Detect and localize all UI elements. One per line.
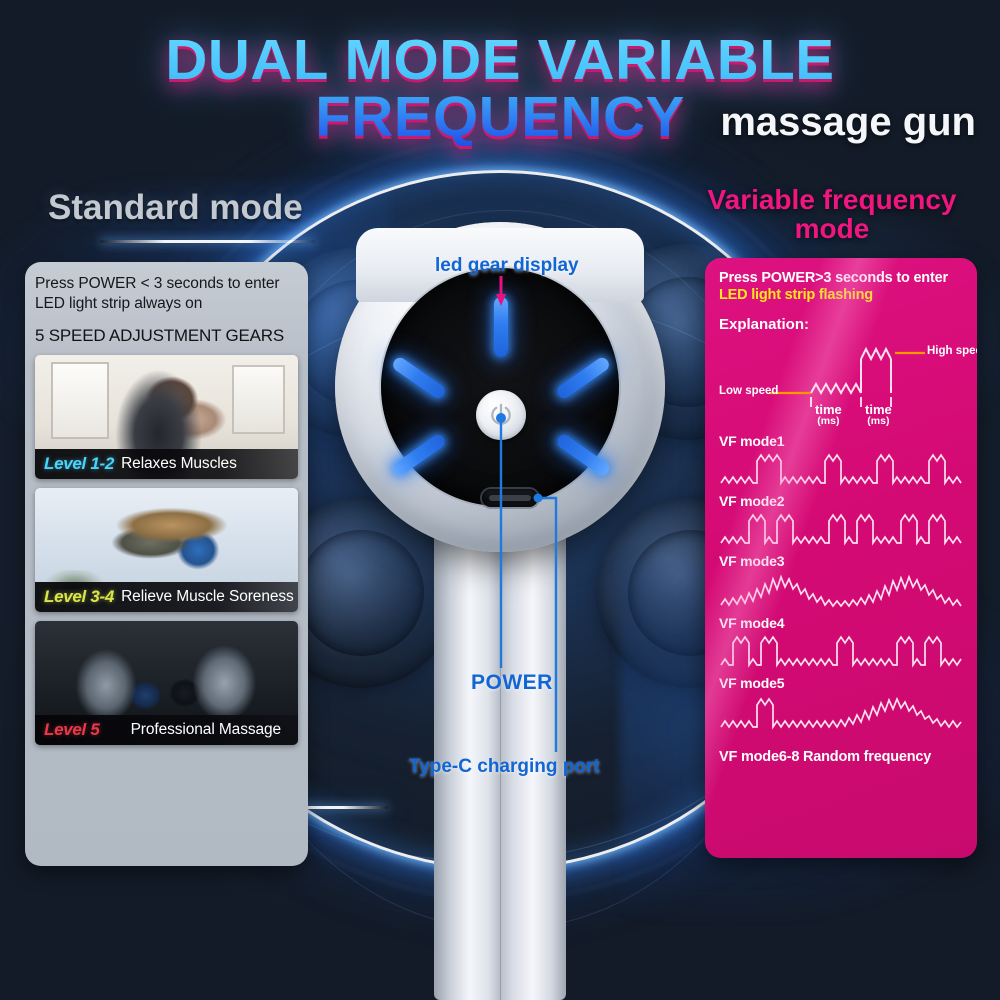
explanation-label: Explanation:: [719, 316, 965, 333]
vf-heading-line2: mode: [795, 213, 870, 244]
time-unit: (ms): [815, 416, 842, 427]
standard-mode-panel: Press POWER < 3 seconds to enter LED lig…: [25, 262, 308, 866]
level-card[interactable]: Level 1-2 Relaxes Muscles: [35, 355, 298, 479]
vf-instruction-line1: Press POWER>3 seconds to enter: [719, 270, 965, 286]
variable-frequency-heading: Variable frequency mode: [682, 186, 982, 243]
vf-random-frequency-label: VF mode6-8 Random frequency: [719, 749, 965, 765]
speed-gears-label: 5 SPEED ADJUSTMENT GEARS: [35, 326, 298, 346]
level-caption: Level 3-4 Relieve Muscle Soreness: [35, 582, 298, 612]
time-unit: (ms): [865, 416, 892, 427]
level-tag: Level 1-2: [44, 454, 114, 474]
standard-mode-heading: Standard mode: [48, 188, 303, 228]
standard-instruction-line2: LED light strip always on: [35, 294, 298, 314]
level-caption: Level 5 Professional Massage: [35, 715, 298, 745]
vf-heading-line1: Variable frequency: [707, 184, 956, 215]
vf-mode-row: VF mode1: [719, 433, 965, 491]
standard-instruction-line1: Press POWER < 3 seconds to enter: [35, 274, 298, 294]
page-subtitle: massage gun: [720, 100, 976, 145]
vf-mode-row: VF mode2: [719, 493, 965, 551]
vf-mode4-waveform: [719, 629, 965, 673]
vf-instruction-line2: LED light strip flashing: [719, 287, 965, 303]
level-tag: Level 5: [44, 720, 100, 740]
vf-mode1-waveform: [719, 447, 965, 491]
vf-mode-row: VF mode5: [719, 675, 965, 735]
light-streak: [100, 240, 315, 243]
level-tag: Level 3-4: [44, 587, 114, 607]
level-card[interactable]: Level 3-4 Relieve Muscle Soreness: [35, 488, 298, 612]
vf-mode2-waveform: [719, 507, 965, 551]
level-card[interactable]: Level 5 Professional Massage: [35, 621, 298, 745]
time-label-low: time (ms): [815, 403, 842, 427]
vf-mode5-waveform: [719, 689, 965, 735]
level-caption: Level 1-2 Relaxes Muscles: [35, 449, 298, 479]
vf-mode3-waveform: [719, 567, 965, 613]
high-speed-label: High speed: [927, 345, 977, 357]
low-speed-label: Low speed: [719, 385, 778, 397]
vf-mode-row: VF mode4: [719, 615, 965, 673]
variable-frequency-panel: Press POWER>3 seconds to enter LED light…: [705, 258, 977, 858]
level-text: Professional Massage: [131, 721, 282, 739]
level-text: Relieve Muscle Soreness: [121, 588, 294, 606]
time-label-high: time (ms): [865, 403, 892, 427]
level-text: Relaxes Muscles: [121, 455, 237, 473]
vf-mode-row: VF mode3: [719, 553, 965, 613]
explanation-diagram: Low speed High speed time (ms) time (ms): [719, 335, 965, 431]
